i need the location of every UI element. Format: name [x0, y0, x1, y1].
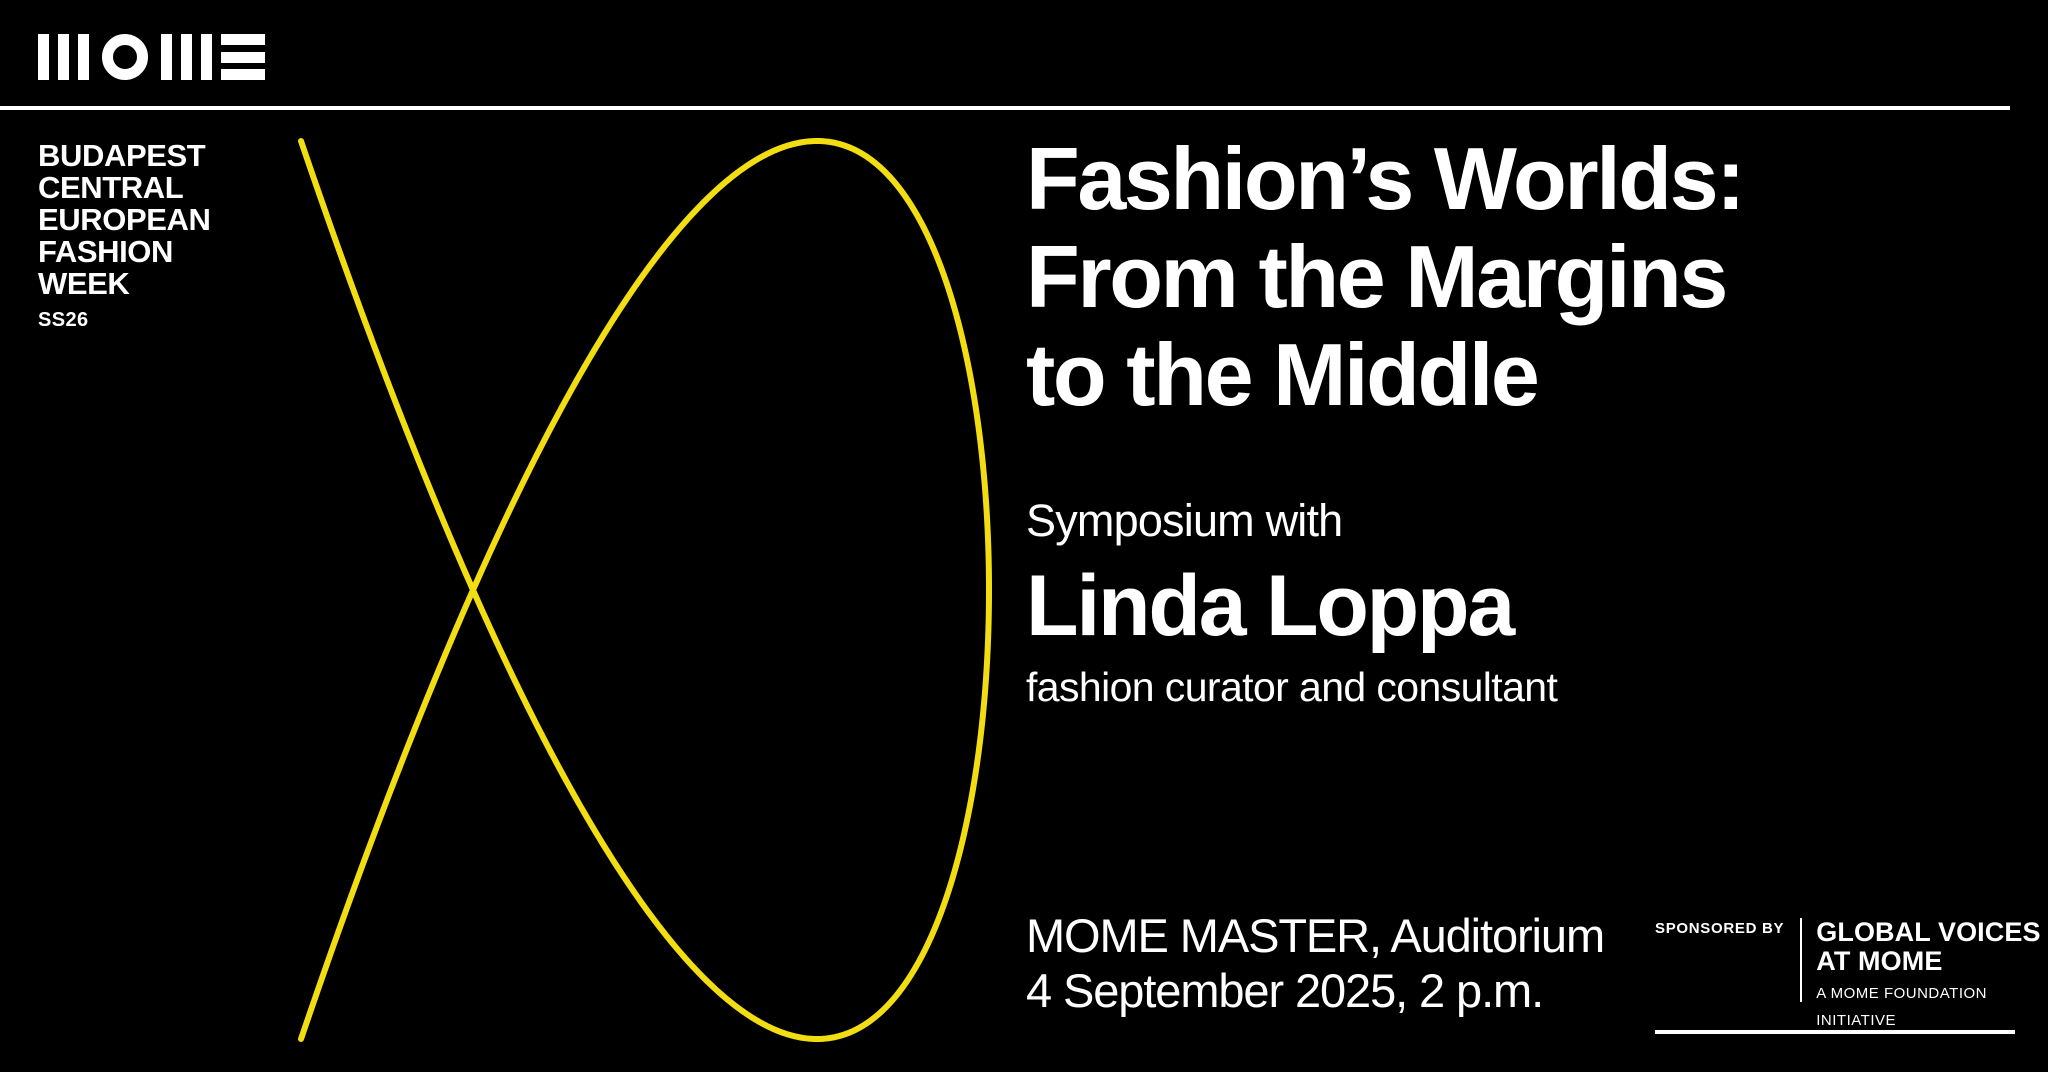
mome-logo — [38, 34, 265, 80]
event-line-5: WEEK — [38, 268, 288, 300]
sponsor-divider — [1800, 918, 1802, 1002]
logo-horizontal-bars-icon — [221, 34, 265, 80]
sponsor-sub-line-2: INITIATIVE — [1816, 1012, 2040, 1030]
title-line-3: to the Middle — [1026, 326, 2016, 424]
sponsor-underline — [1655, 1030, 2015, 1034]
lissajous-path — [301, 141, 989, 1039]
lissajous-curve-graphic — [295, 135, 995, 1045]
title-line-1: Fashion’s Worlds: — [1026, 130, 2016, 228]
event-line-4: FASHION — [38, 236, 288, 268]
sponsor-brand: GLOBAL VOICES AT MOME A MOME FOUNDATION … — [1816, 918, 2040, 1030]
header-divider — [0, 106, 2010, 110]
logo-bar-icon — [58, 34, 69, 80]
sponsor-lockup: SPONSORED BY GLOBAL VOICES AT MOME A MOM… — [1655, 918, 2015, 1030]
event-season: SS26 — [38, 309, 288, 331]
logo-bar-icon — [38, 34, 49, 80]
logo-circle-icon — [102, 34, 148, 80]
poster-header — [0, 0, 2048, 112]
title-line-2: From the Margins — [1026, 228, 2016, 326]
event-line-1: BUDAPEST — [38, 140, 288, 172]
event-line-3: EUROPEAN — [38, 204, 288, 236]
poster-canvas: BUDAPEST CENTRAL EUROPEAN FASHION WEEK S… — [0, 0, 2048, 1072]
sponsor-brand-line-1: GLOBAL VOICES — [1816, 918, 2040, 947]
logo-bar-icon — [161, 34, 172, 80]
sponsor-brand-line-2: AT MOME — [1816, 947, 2040, 976]
event-kicker: Symposium with — [1026, 496, 2016, 546]
main-content: Fashion’s Worlds: From the Margins to th… — [1026, 130, 2016, 710]
speaker-role: fashion curator and consultant — [1026, 664, 2016, 710]
page-title: Fashion’s Worlds: From the Margins to th… — [1026, 130, 2016, 424]
sponsor-label: SPONSORED BY — [1655, 918, 1784, 937]
event-line-2: CENTRAL — [38, 172, 288, 204]
logo-bar-icon — [78, 34, 89, 80]
event-identity: BUDAPEST CENTRAL EUROPEAN FASHION WEEK S… — [38, 140, 288, 331]
logo-bar-icon — [201, 34, 212, 80]
speaker-name: Linda Loppa — [1026, 560, 2016, 652]
sponsor-sub-line-1: A MOME FOUNDATION — [1816, 985, 2040, 1003]
logo-bar-icon — [181, 34, 192, 80]
